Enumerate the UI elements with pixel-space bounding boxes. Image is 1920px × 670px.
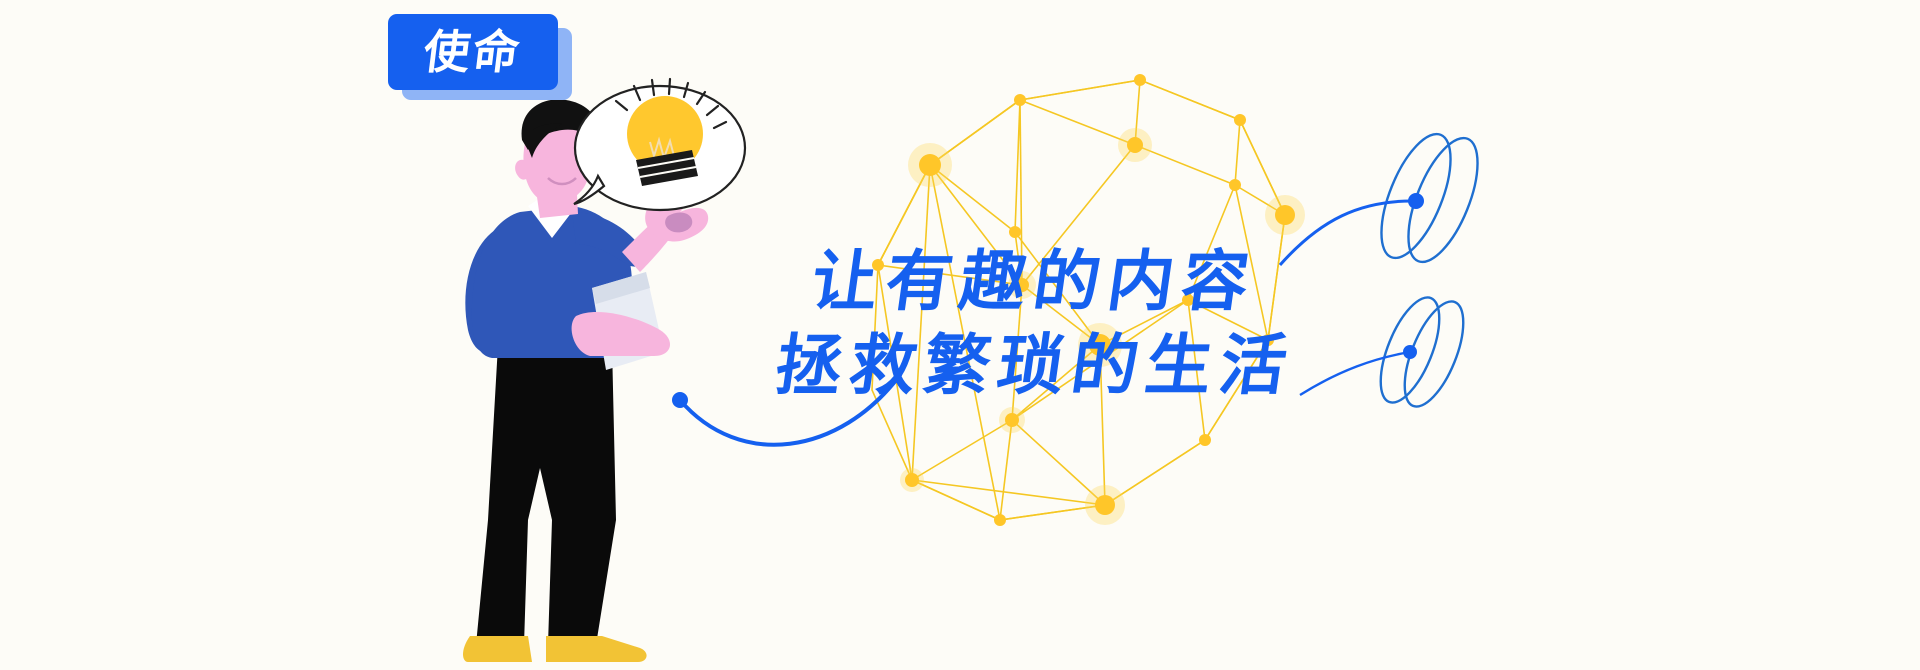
right-shoe [546, 636, 647, 662]
headline-block: 让有趣的内容 拯救繁琐的生活 [812, 240, 1552, 409]
headline-line-1: 让有趣的内容 [806, 240, 1558, 324]
headline-line-2: 拯救繁琐的生活 [770, 324, 1558, 408]
left-shoe [463, 636, 532, 662]
swoosh-dot [672, 392, 688, 408]
pants [476, 345, 616, 645]
idea-speech-bubble [574, 79, 745, 210]
mission-banner: 使命 让有趣的内容 拯救繁琐的生活 [0, 0, 1920, 670]
badge-label: 使命 [421, 29, 525, 75]
mission-badge[interactable]: 使命 [388, 14, 572, 106]
badge-front[interactable]: 使命 [388, 14, 558, 90]
